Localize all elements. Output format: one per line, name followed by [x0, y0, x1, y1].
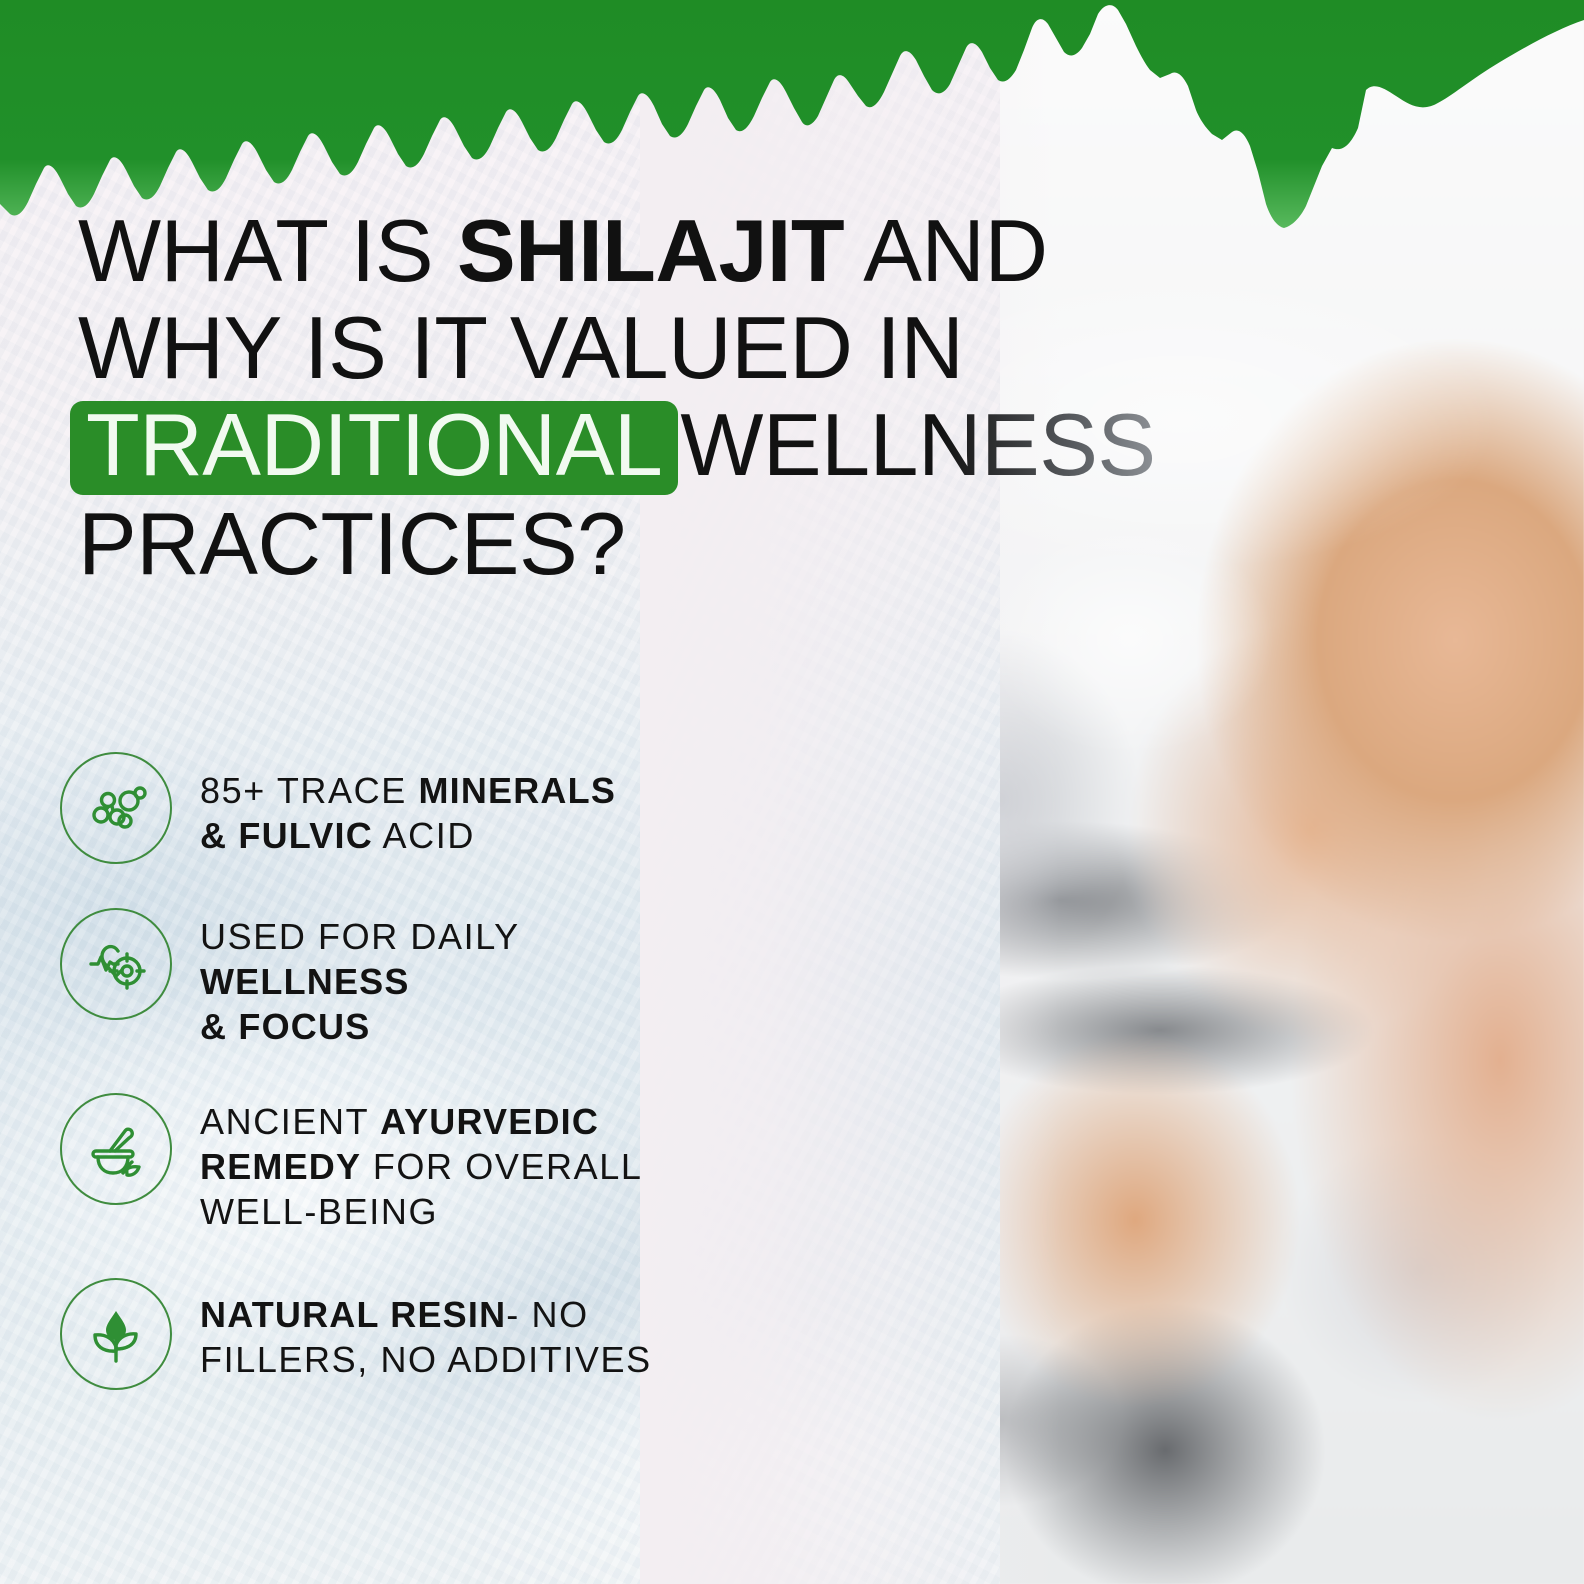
list-item: NATURAL RESIN- NO FILLERS, NO ADDITIVES: [60, 1278, 820, 1390]
headline-line-1: WHAT IS SHILAJIT AND: [78, 202, 1088, 299]
feature-3-line3: WELL-BEING: [200, 1191, 438, 1232]
list-item-text: USED FOR DAILY WELLNESS & FOCUS: [200, 908, 520, 1049]
feature-3-line2-bold: REMEDY: [200, 1146, 361, 1187]
headline-line-3: TRADITIONALWELLNESS: [78, 396, 1088, 495]
molecule-icon: [60, 752, 172, 864]
feature-3-lead: ANCIENT: [200, 1101, 380, 1142]
list-item-text: 85+ TRACE MINERALS & FULVIC ACID: [200, 752, 616, 858]
headline-line-1-part-c: AND: [844, 201, 1047, 300]
feature-4-lead-rest: - NO: [506, 1294, 588, 1335]
feature-2-line1: USED FOR DAILY: [200, 916, 520, 957]
headline-highlight-traditional: TRADITIONAL: [70, 401, 678, 495]
feature-1-line2-rest: ACID: [373, 815, 475, 856]
leaf-droplet-icon: [60, 1278, 172, 1390]
feature-3-line2-rest: FOR OVERALL: [361, 1146, 642, 1187]
list-item: USED FOR DAILY WELLNESS & FOCUS: [60, 908, 820, 1049]
promo-poster: WHAT IS SHILAJIT AND WHY IS IT VALUED IN…: [0, 0, 1584, 1584]
feature-4-bold: NATURAL RESIN: [200, 1294, 506, 1335]
feature-2-line3: & FOCUS: [200, 1006, 370, 1047]
feature-4-line2: FILLERS, NO ADDITIVES: [200, 1339, 652, 1380]
feature-1-bold: MINERALS: [418, 770, 616, 811]
mortar-pestle-leaf-icon: [60, 1093, 172, 1205]
list-item-text: NATURAL RESIN- NO FILLERS, NO ADDITIVES: [200, 1278, 652, 1382]
headline-line-2: WHY IS IT VALUED IN: [78, 299, 1088, 396]
heart-pulse-target-icon: [60, 908, 172, 1020]
feature-2-line2: WELLNESS: [200, 961, 410, 1002]
headline-line-1-part-a: WHAT IS: [78, 201, 457, 300]
list-item: ANCIENT AYURVEDIC REMEDY FOR OVERALL WEL…: [60, 1093, 820, 1234]
feature-1-line2-bold: & FULVIC: [200, 815, 373, 856]
page-title: WHAT IS SHILAJIT AND WHY IS IT VALUED IN…: [78, 202, 1088, 592]
headline-keyword-shilajit: SHILAJIT: [457, 201, 844, 300]
headline-wellness: WELLNESS: [680, 395, 1155, 494]
list-item: 85+ TRACE MINERALS & FULVIC ACID: [60, 752, 820, 864]
list-item-text: ANCIENT AYURVEDIC REMEDY FOR OVERALL WEL…: [200, 1093, 643, 1234]
feature-1-lead: 85+ TRACE: [200, 770, 418, 811]
feature-3-bold: AYURVEDIC: [380, 1101, 599, 1142]
feature-list: 85+ TRACE MINERALS & FULVIC ACID U: [60, 752, 820, 1390]
headline-line-4: PRACTICES?: [78, 495, 1088, 592]
